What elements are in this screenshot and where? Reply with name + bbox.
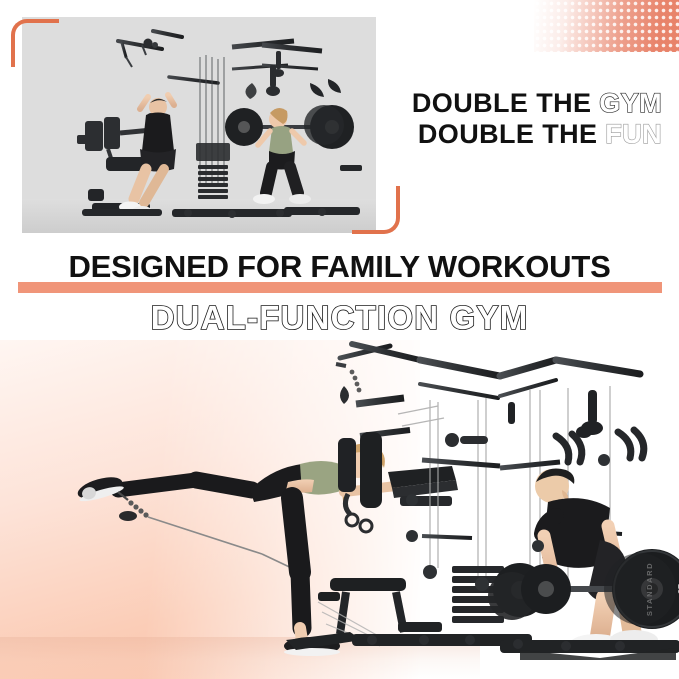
bottom-photo: STANDARD 25 — [0, 340, 679, 679]
product-marketing-image: DOUBLE THE GYM DOUBLE THE FUN DESIGNED F… — [0, 0, 679, 679]
bottom-photo-illustration: STANDARD 25 — [0, 340, 679, 679]
hero-photo — [22, 17, 376, 233]
tagline-line-2-solid: DOUBLE THE — [418, 119, 598, 149]
tagline-line-1: DOUBLE THE GYM — [330, 88, 662, 119]
corner-bracket-bottom-right-icon — [352, 186, 400, 234]
tagline-line-2: DOUBLE THE FUN — [330, 119, 662, 150]
tagline-block: DOUBLE THE GYM DOUBLE THE FUN — [330, 88, 662, 150]
hero-photo-illustration — [22, 17, 376, 233]
main-headline-group: DESIGNED FOR FAMILY WORKOUTS — [0, 249, 679, 295]
dot-grid-pattern — [534, 0, 679, 52]
page-subtitle: DUAL-FUNCTION GYM — [0, 299, 679, 337]
tagline-line-1-solid: DOUBLE THE — [412, 88, 592, 118]
page-title: DESIGNED FOR FAMILY WORKOUTS — [0, 249, 679, 285]
tagline-line-1-hollow: GYM — [599, 88, 662, 118]
tagline-line-2-hollow: FUN — [605, 119, 662, 149]
corner-bracket-top-left-icon — [11, 19, 59, 67]
